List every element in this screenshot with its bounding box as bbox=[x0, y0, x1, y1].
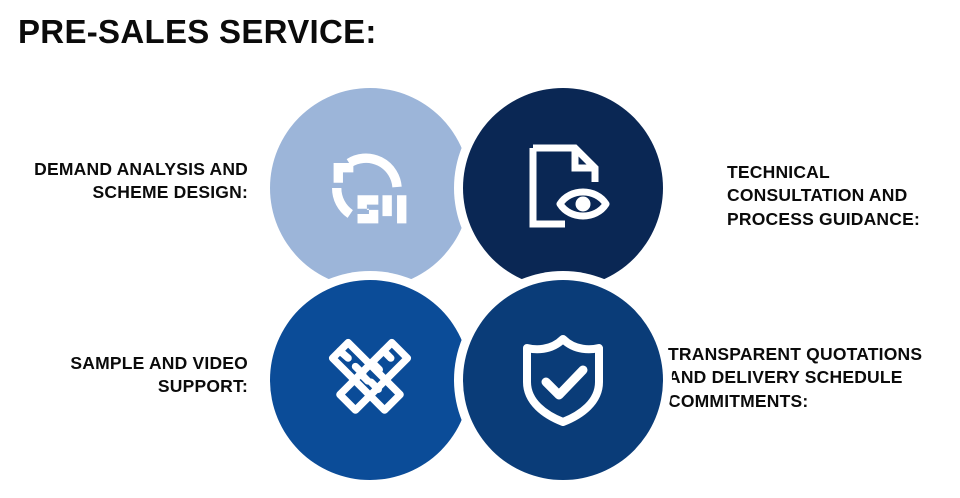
circle-technical-consultation[interactable] bbox=[463, 88, 663, 288]
page-title: PRE-SALES SERVICE: bbox=[18, 13, 377, 51]
shield-check-icon bbox=[513, 330, 613, 430]
circle-demand-analysis[interactable] bbox=[270, 88, 470, 288]
circle-cluster bbox=[262, 80, 672, 490]
clock-24-refresh-icon bbox=[318, 136, 422, 240]
label-transparent-quotations: TRANSPARENT QUOTATIONS AND DELIVERY SCHE… bbox=[668, 343, 958, 413]
circle-sample-video-support[interactable] bbox=[270, 280, 470, 480]
label-technical-consultation: TECHNICAL CONSULTATION AND PROCESS GUIDA… bbox=[727, 161, 952, 231]
label-demand-analysis: DEMAND ANALYSIS AND SCHEME DESIGN: bbox=[13, 158, 248, 205]
pencil-ruler-icon bbox=[318, 328, 422, 432]
circle-transparent-quotations[interactable] bbox=[463, 280, 663, 480]
document-eye-icon bbox=[513, 138, 613, 238]
label-sample-video-support: SAMPLE AND VIDEO SUPPORT: bbox=[13, 352, 248, 399]
